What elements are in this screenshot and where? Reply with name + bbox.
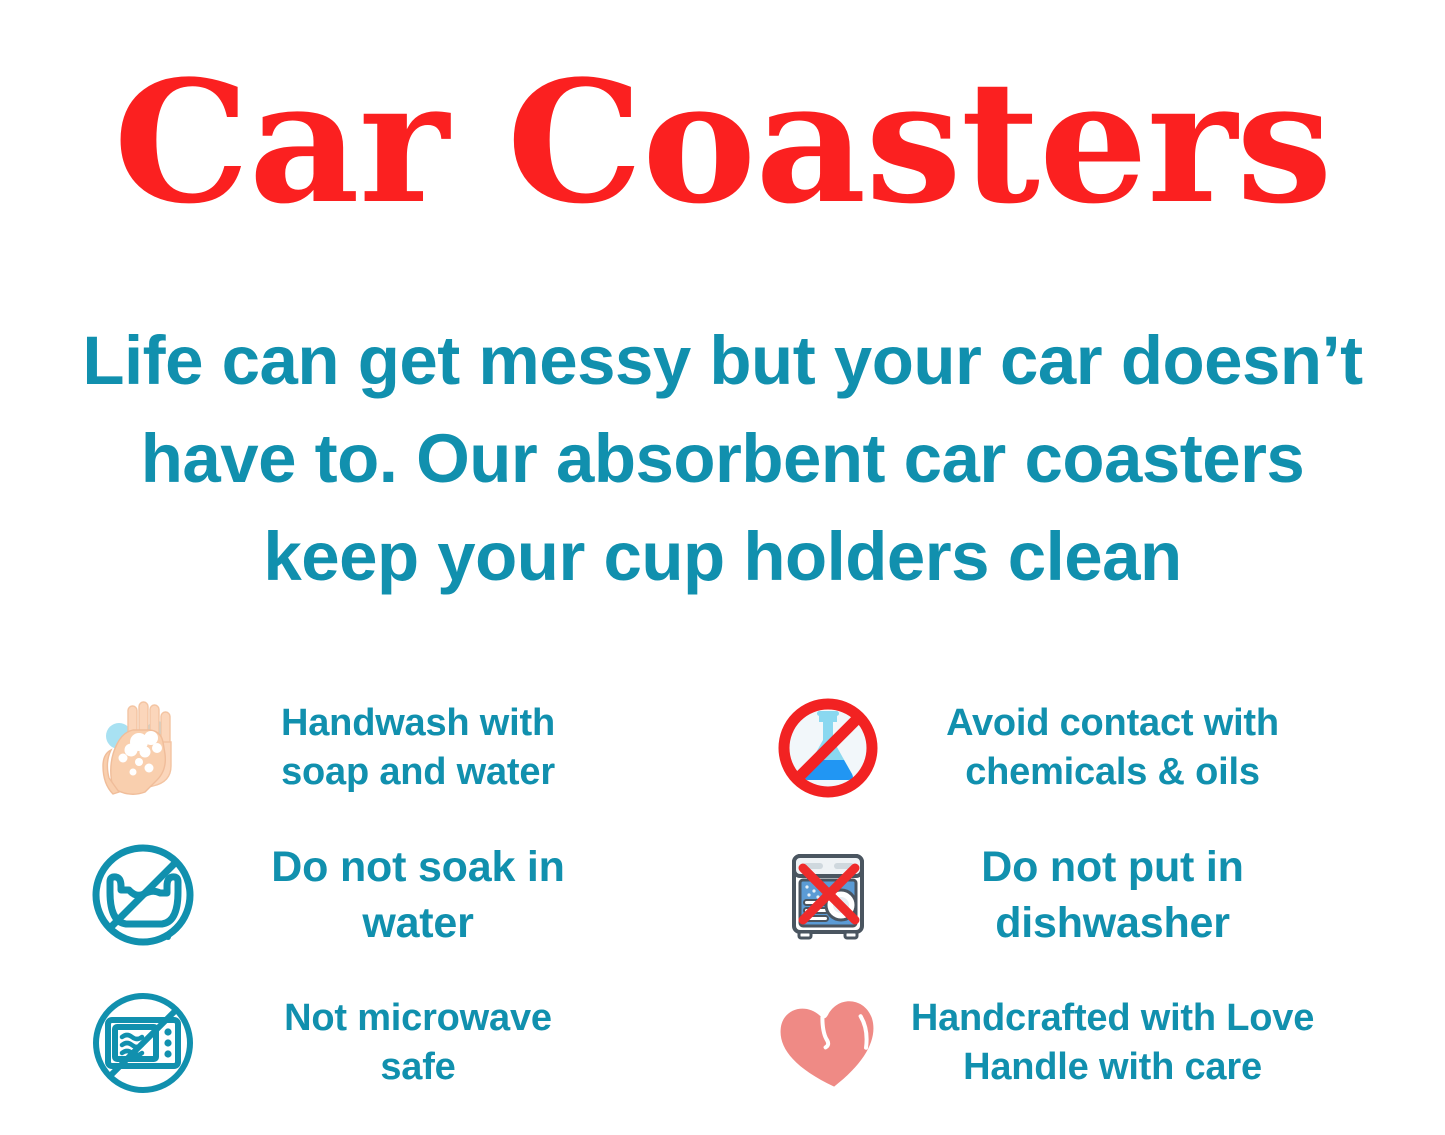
care-instructions-page: Car Coasters Life can get messy but your…	[0, 0, 1445, 1135]
care-item-label: Handcrafted with Love Handle with care	[893, 994, 1333, 1092]
no-dishwasher-icon	[763, 836, 893, 954]
do-not-soak-icon	[78, 836, 208, 954]
page-title-area: Car Coasters	[0, 0, 1445, 226]
care-item-chemicals: Avoid contact with chemicals & oils	[723, 674, 1406, 822]
care-item-dishwasher: Do not put in dishwasher	[723, 822, 1406, 970]
no-microwave-icon	[78, 984, 208, 1102]
no-chemicals-flask-icon	[763, 689, 893, 807]
washing-hands-icon	[78, 689, 208, 807]
care-item-handcrafted: Handcrafted with Love Handle with care	[723, 969, 1406, 1117]
care-item-label: Do not soak in water	[208, 839, 628, 951]
intro-line-3: keep your cup holders clean	[28, 508, 1417, 606]
heart-icon	[763, 984, 893, 1102]
care-instructions-grid: Handwash with soap and water Avoid conta…	[0, 674, 1445, 1135]
care-item-label: Handwash with soap and water	[208, 699, 628, 797]
care-item-label: Avoid contact with chemicals & oils	[893, 699, 1333, 797]
intro-paragraph: Life can get messy but your car doesn’t …	[0, 312, 1445, 606]
intro-line-2: have to. Our absorbent car coasters	[28, 410, 1417, 508]
page-title: Car Coasters	[0, 58, 1445, 226]
care-item-microwave: Not microwave safe	[40, 969, 723, 1117]
care-item-do-not-soak: Do not soak in water	[40, 822, 723, 970]
care-item-label: Not microwave safe	[208, 994, 628, 1092]
care-item-label: Do not put in dishwasher	[893, 839, 1333, 951]
care-item-handwash: Handwash with soap and water	[40, 674, 723, 822]
intro-line-1: Life can get messy but your car doesn’t	[28, 312, 1417, 410]
